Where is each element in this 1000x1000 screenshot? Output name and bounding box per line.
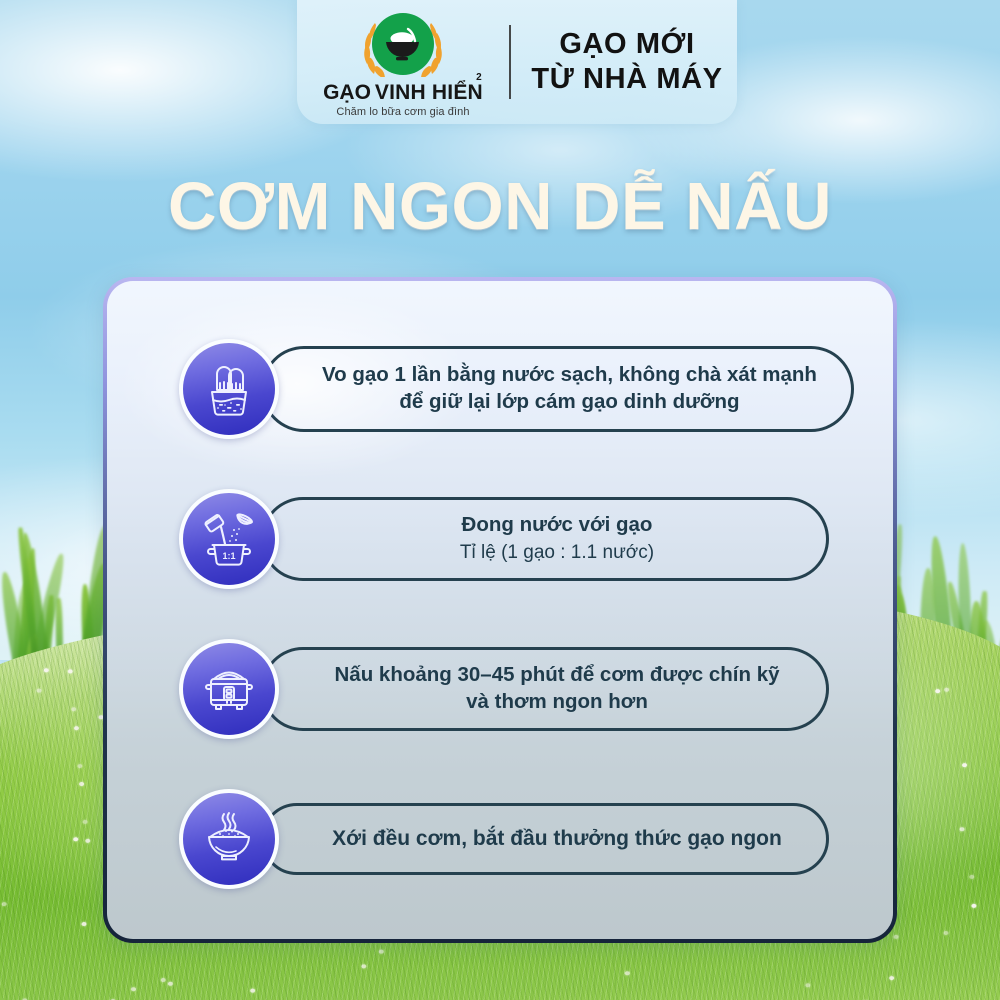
step-item[interactable]: Vo gạo 1 lần bằng nước sạch, không chà x… (179, 337, 829, 441)
step-line-1: Vo gạo 1 lần bằng nước sạch, không chà x… (322, 362, 817, 389)
step-text-pill: Vo gạo 1 lần bằng nước sạch, không chà x… (261, 346, 854, 432)
header-bar: GẠOVINH HIỂN2 Chăm lo bữa cơm gia đình G… (297, 0, 737, 124)
logo-word-vinhhien: VINH HIỂN2 (375, 82, 483, 103)
pot-measuring-water-rice-icon: 1:1 (179, 489, 279, 589)
logo-word-gao: GẠO (323, 82, 371, 103)
rice-cooker-icon (179, 639, 279, 739)
steps-list: Vo gạo 1 lần bằng nước sạch, không chà x… (107, 281, 893, 939)
step-subline: Tỉ lệ (1 gạo : 1.1 nước) (460, 540, 654, 566)
steaming-rice-bowl-icon (179, 789, 279, 889)
header-title-line2: TỪ NHÀ MÁY (517, 62, 737, 97)
steps-panel: Vo gạo 1 lần bằng nước sạch, không chà x… (103, 277, 897, 943)
step-line-2: và thơm ngon hơn (466, 689, 648, 716)
step-line-1: Xới đều cơm, bắt đầu thưởng thức gạo ngo… (332, 825, 782, 852)
step-line-1: Nấu khoảng 30–45 phút để cơm được chín k… (335, 662, 780, 689)
step-text-pill: Xới đều cơm, bắt đầu thưởng thức gạo ngo… (261, 803, 829, 875)
header-title-line1: GẠO MỚI (517, 27, 737, 62)
logo-tagline: Chăm lo bữa cơm gia đình (336, 106, 469, 118)
page-headline: CƠM NGON DỄ NẤU (0, 168, 1000, 245)
step-item[interactable]: 1:1 Đong nước với gạo Tỉ lệ (1 gạo : 1.1… (179, 487, 829, 591)
step-line-2: để giữ lại lớp cám gạo dinh dưỡng (399, 389, 739, 416)
step-line-1: Đong nước với gạo (462, 512, 653, 539)
header-title: GẠO MỚI TỪ NHÀ MÁY (513, 27, 737, 98)
logo-wordmark: GẠOVINH HIỂN2 (323, 82, 483, 103)
step-item[interactable]: Nấu khoảng 30–45 phút để cơm được chín k… (179, 637, 829, 741)
brand-logo[interactable]: GẠOVINH HIỂN2 Chăm lo bữa cơm gia đình (297, 7, 509, 118)
step-text-pill: Đong nước với gạo Tỉ lệ (1 gạo : 1.1 nướ… (261, 497, 829, 581)
svg-text:1:1: 1:1 (222, 551, 235, 561)
header-divider (509, 25, 511, 99)
step-item[interactable]: Xới đều cơm, bắt đầu thưởng thức gạo ngo… (179, 787, 829, 891)
hands-washing-rice-icon (179, 339, 279, 439)
logo-green-circle (372, 13, 434, 75)
step-text-pill: Nấu khoảng 30–45 phút để cơm được chín k… (261, 647, 829, 731)
logo-mark (351, 11, 455, 79)
rice-bowl-icon (381, 24, 425, 64)
